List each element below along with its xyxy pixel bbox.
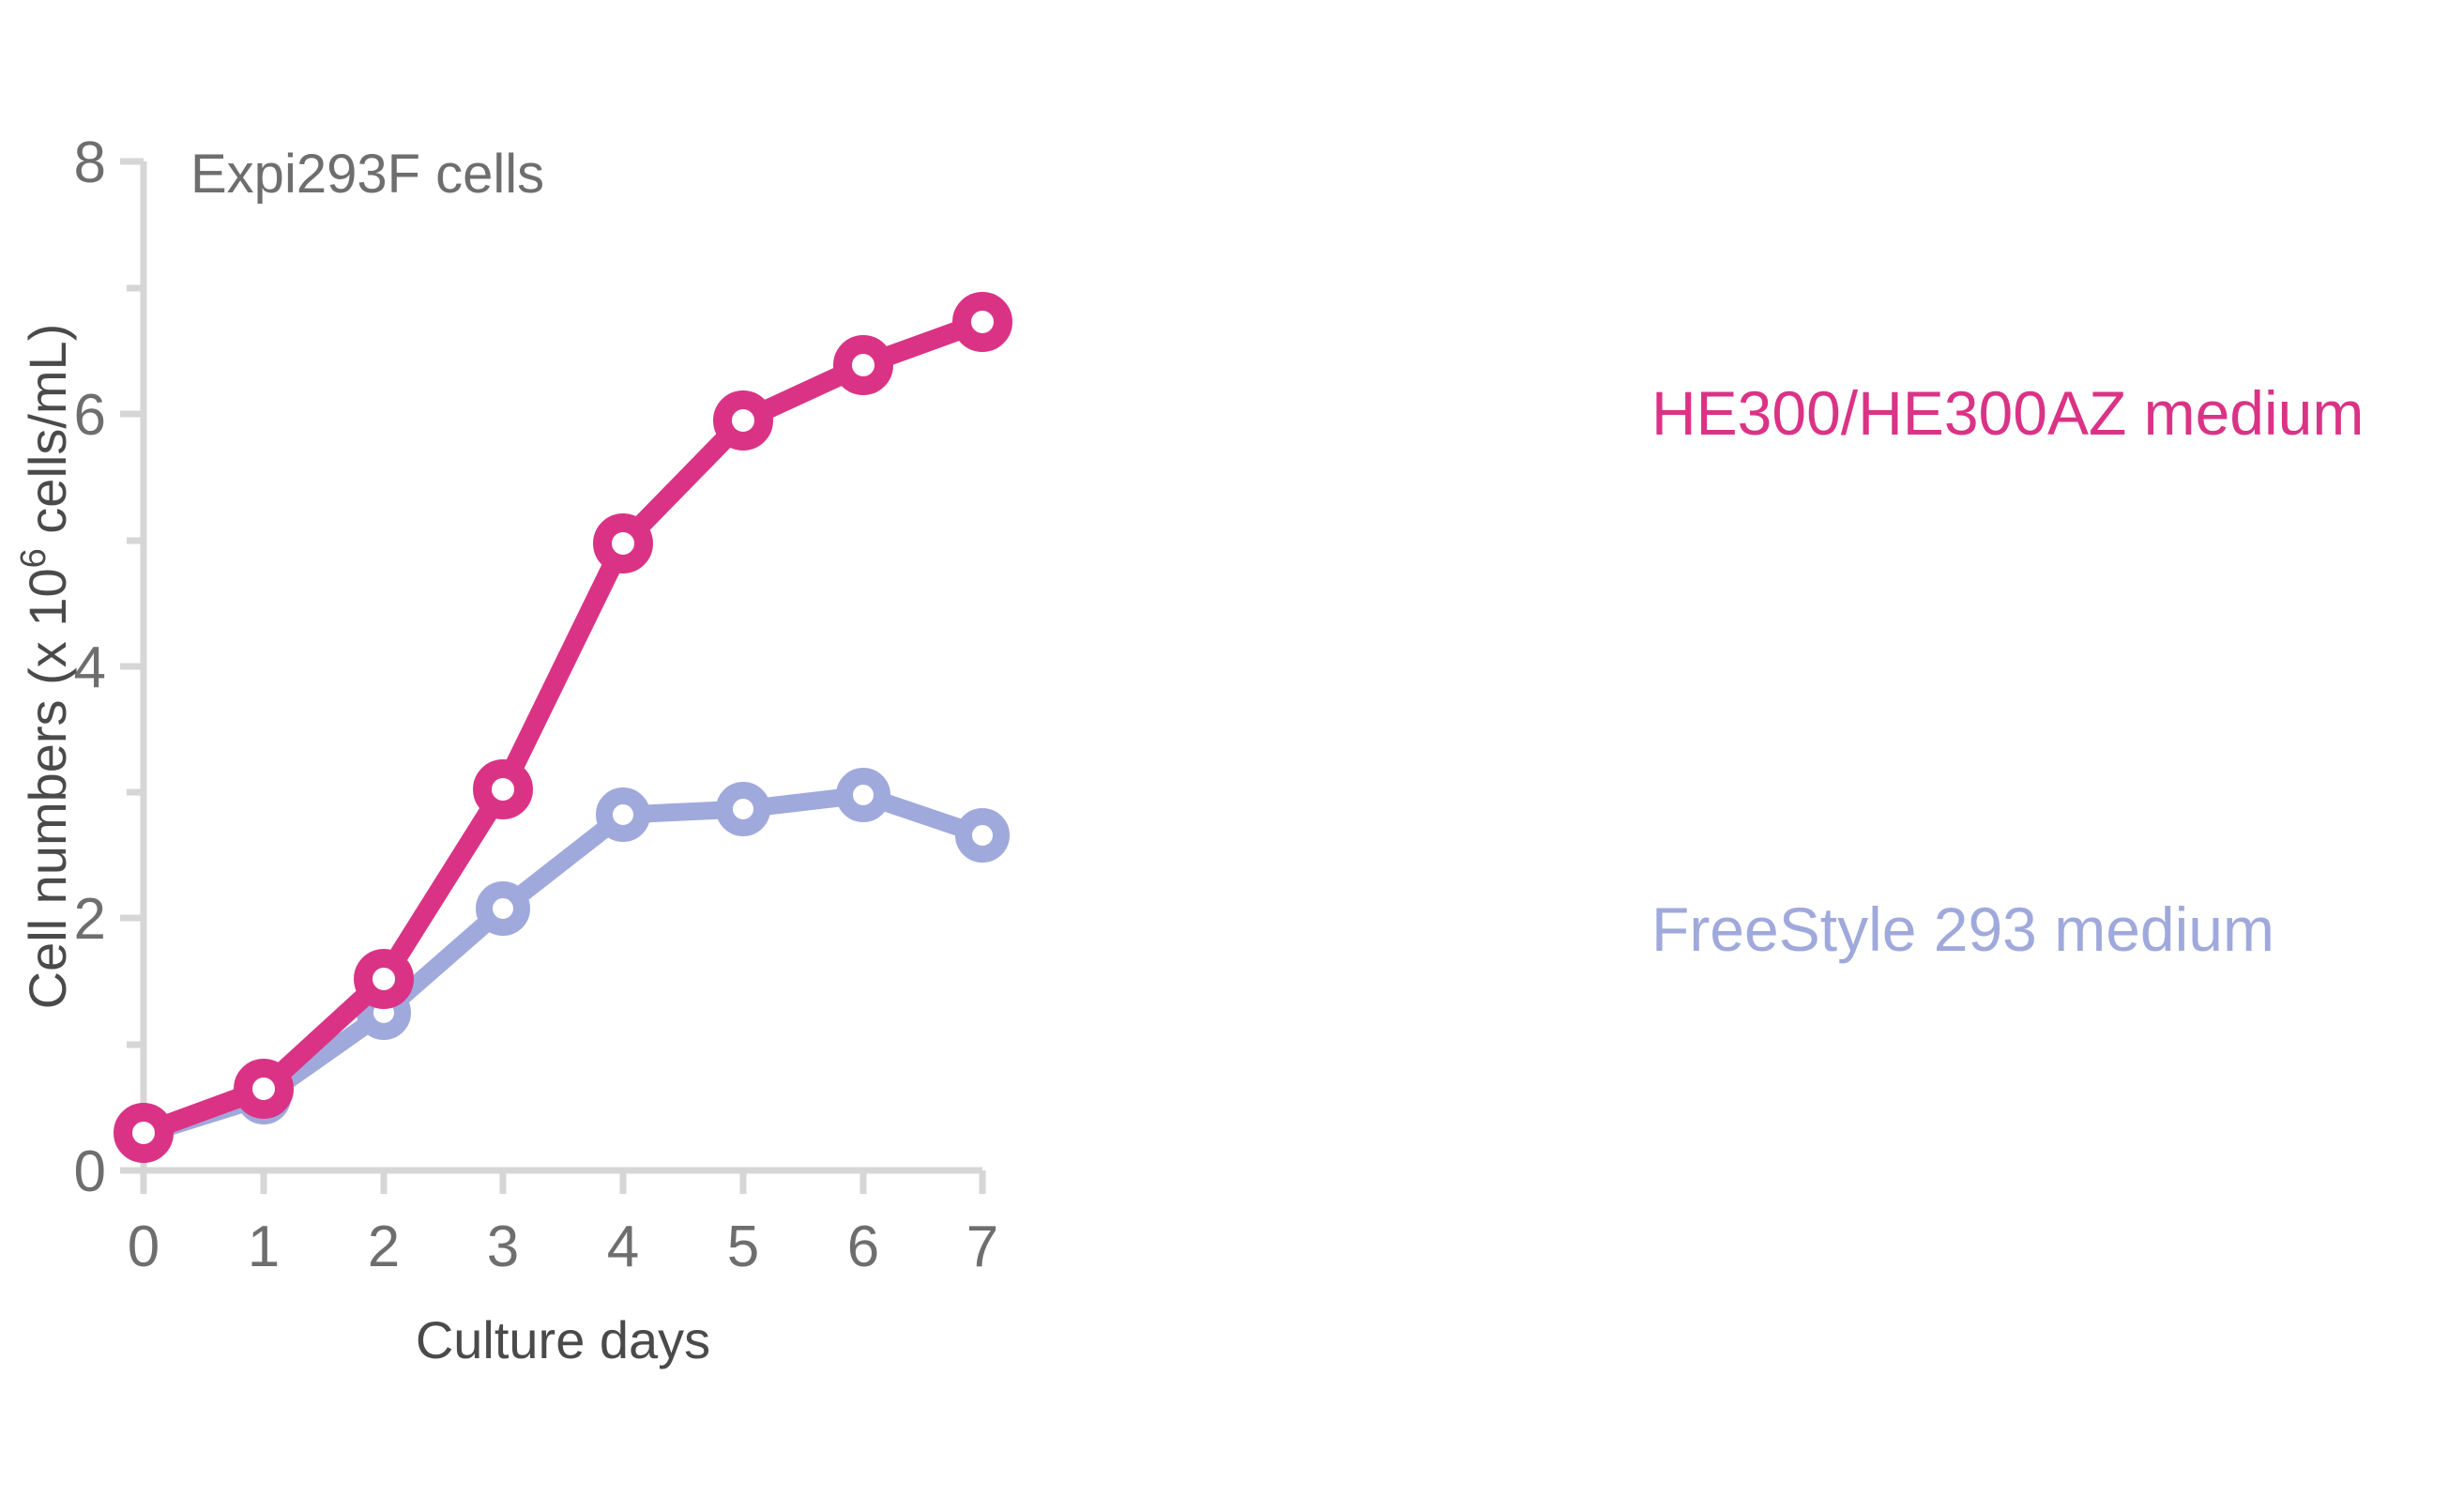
y-tick-labels: 8 6 4 2 0 [74, 130, 106, 1204]
data-point [844, 776, 882, 814]
data-point [482, 769, 524, 810]
y-axis-title-superscript: 6 [14, 548, 53, 568]
y-tick-label-0: 0 [74, 1139, 106, 1204]
y-tick-label-8: 8 [74, 130, 106, 195]
data-point [962, 301, 1003, 343]
series-label-he300-he300az: HE300/HE300AZ medium [1651, 378, 2364, 448]
x-tick-label-2: 2 [368, 1215, 400, 1279]
series-label-freestyle-293: FreeStyle 293 medium [1651, 894, 2274, 964]
y-axis-title-before: Cell numbers (x 10 [18, 568, 77, 1009]
panel-title: Expi293F cells [190, 144, 544, 205]
y-tick-label-6: 6 [74, 383, 106, 448]
x-axis-title: Culture days [416, 1310, 710, 1369]
series-he300-he300az-line [144, 322, 982, 1133]
x-tick-label-4: 4 [607, 1215, 639, 1279]
data-point [602, 523, 644, 564]
y-axis-title-after: cells/mL) [18, 324, 77, 549]
data-point [724, 790, 762, 828]
data-point [123, 1112, 164, 1154]
x-tick-label-5: 5 [727, 1215, 759, 1279]
data-point [843, 344, 884, 386]
x-tick-label-6: 6 [847, 1215, 879, 1279]
data-point [243, 1068, 284, 1109]
x-tick-labels: 0 1 2 3 4 5 6 7 [128, 1215, 998, 1279]
x-tick-label-0: 0 [128, 1215, 160, 1279]
x-tick-label-1: 1 [248, 1215, 280, 1279]
data-point [722, 400, 764, 441]
data-point [604, 796, 642, 833]
x-tick-label-7: 7 [966, 1215, 998, 1279]
series-he300-he300az [123, 301, 1003, 1154]
data-point [484, 890, 522, 927]
x-tick-label-3: 3 [487, 1215, 519, 1279]
x-ticks [144, 1170, 982, 1194]
y-major-ticks [120, 161, 144, 1170]
line-chart-canvas: 8 6 4 2 0 0 1 2 3 4 5 6 7 Culture days C… [0, 0, 2464, 1498]
y-axis-title: Cell numbers (x 106 cells/mL) [14, 324, 77, 1010]
data-point [363, 958, 404, 1000]
y-tick-label-2: 2 [74, 887, 106, 952]
y-tick-label-4: 4 [74, 635, 106, 700]
svg-text:Cell numbers (x 106 cells/mL): Cell numbers (x 106 cells/mL) [14, 324, 77, 1010]
chart-figure: 8 6 4 2 0 0 1 2 3 4 5 6 7 Culture days C… [0, 0, 2464, 1498]
series-he300-he300az-markers [123, 301, 1003, 1154]
data-point [964, 817, 1001, 854]
